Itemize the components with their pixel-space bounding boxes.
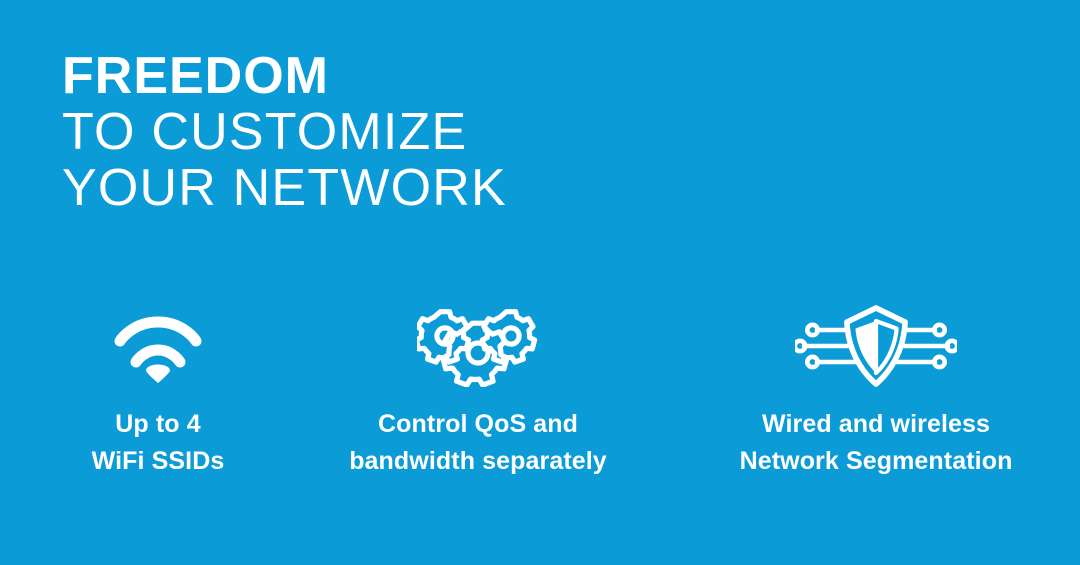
caption-line-1: Control QoS and xyxy=(349,406,607,443)
caption-line-2: WiFi SSIDs xyxy=(92,443,225,480)
headline-line-3: YOUR NETWORK xyxy=(62,160,962,216)
feature-list: Up to 4 WiFi SSIDs xyxy=(0,300,1080,480)
promo-banner: FREEDOM TO CUSTOMIZE YOUR NETWORK Up to … xyxy=(0,0,1080,565)
feature-caption-segmentation: Wired and wireless Network Segmentation xyxy=(740,406,1013,480)
headline-block: FREEDOM TO CUSTOMIZE YOUR NETWORK xyxy=(62,48,962,216)
gears-icon xyxy=(417,300,539,392)
feature-item-wifi: Up to 4 WiFi SSIDs xyxy=(0,300,316,480)
feature-item-segmentation: Wired and wireless Network Segmentation xyxy=(676,300,1076,480)
caption-line-1: Up to 4 xyxy=(92,406,225,443)
caption-line-2: bandwidth separately xyxy=(349,443,607,480)
feature-caption-wifi: Up to 4 WiFi SSIDs xyxy=(92,406,225,480)
headline-line-1: FREEDOM xyxy=(62,48,962,104)
shield-network-icon xyxy=(795,300,957,392)
feature-item-qos: Control QoS and bandwidth separately xyxy=(316,300,640,480)
feature-caption-qos: Control QoS and bandwidth separately xyxy=(349,406,607,480)
caption-line-2: Network Segmentation xyxy=(740,443,1013,480)
headline-line-2: TO CUSTOMIZE xyxy=(62,104,962,160)
wifi-icon xyxy=(112,300,204,392)
caption-line-1: Wired and wireless xyxy=(740,406,1013,443)
